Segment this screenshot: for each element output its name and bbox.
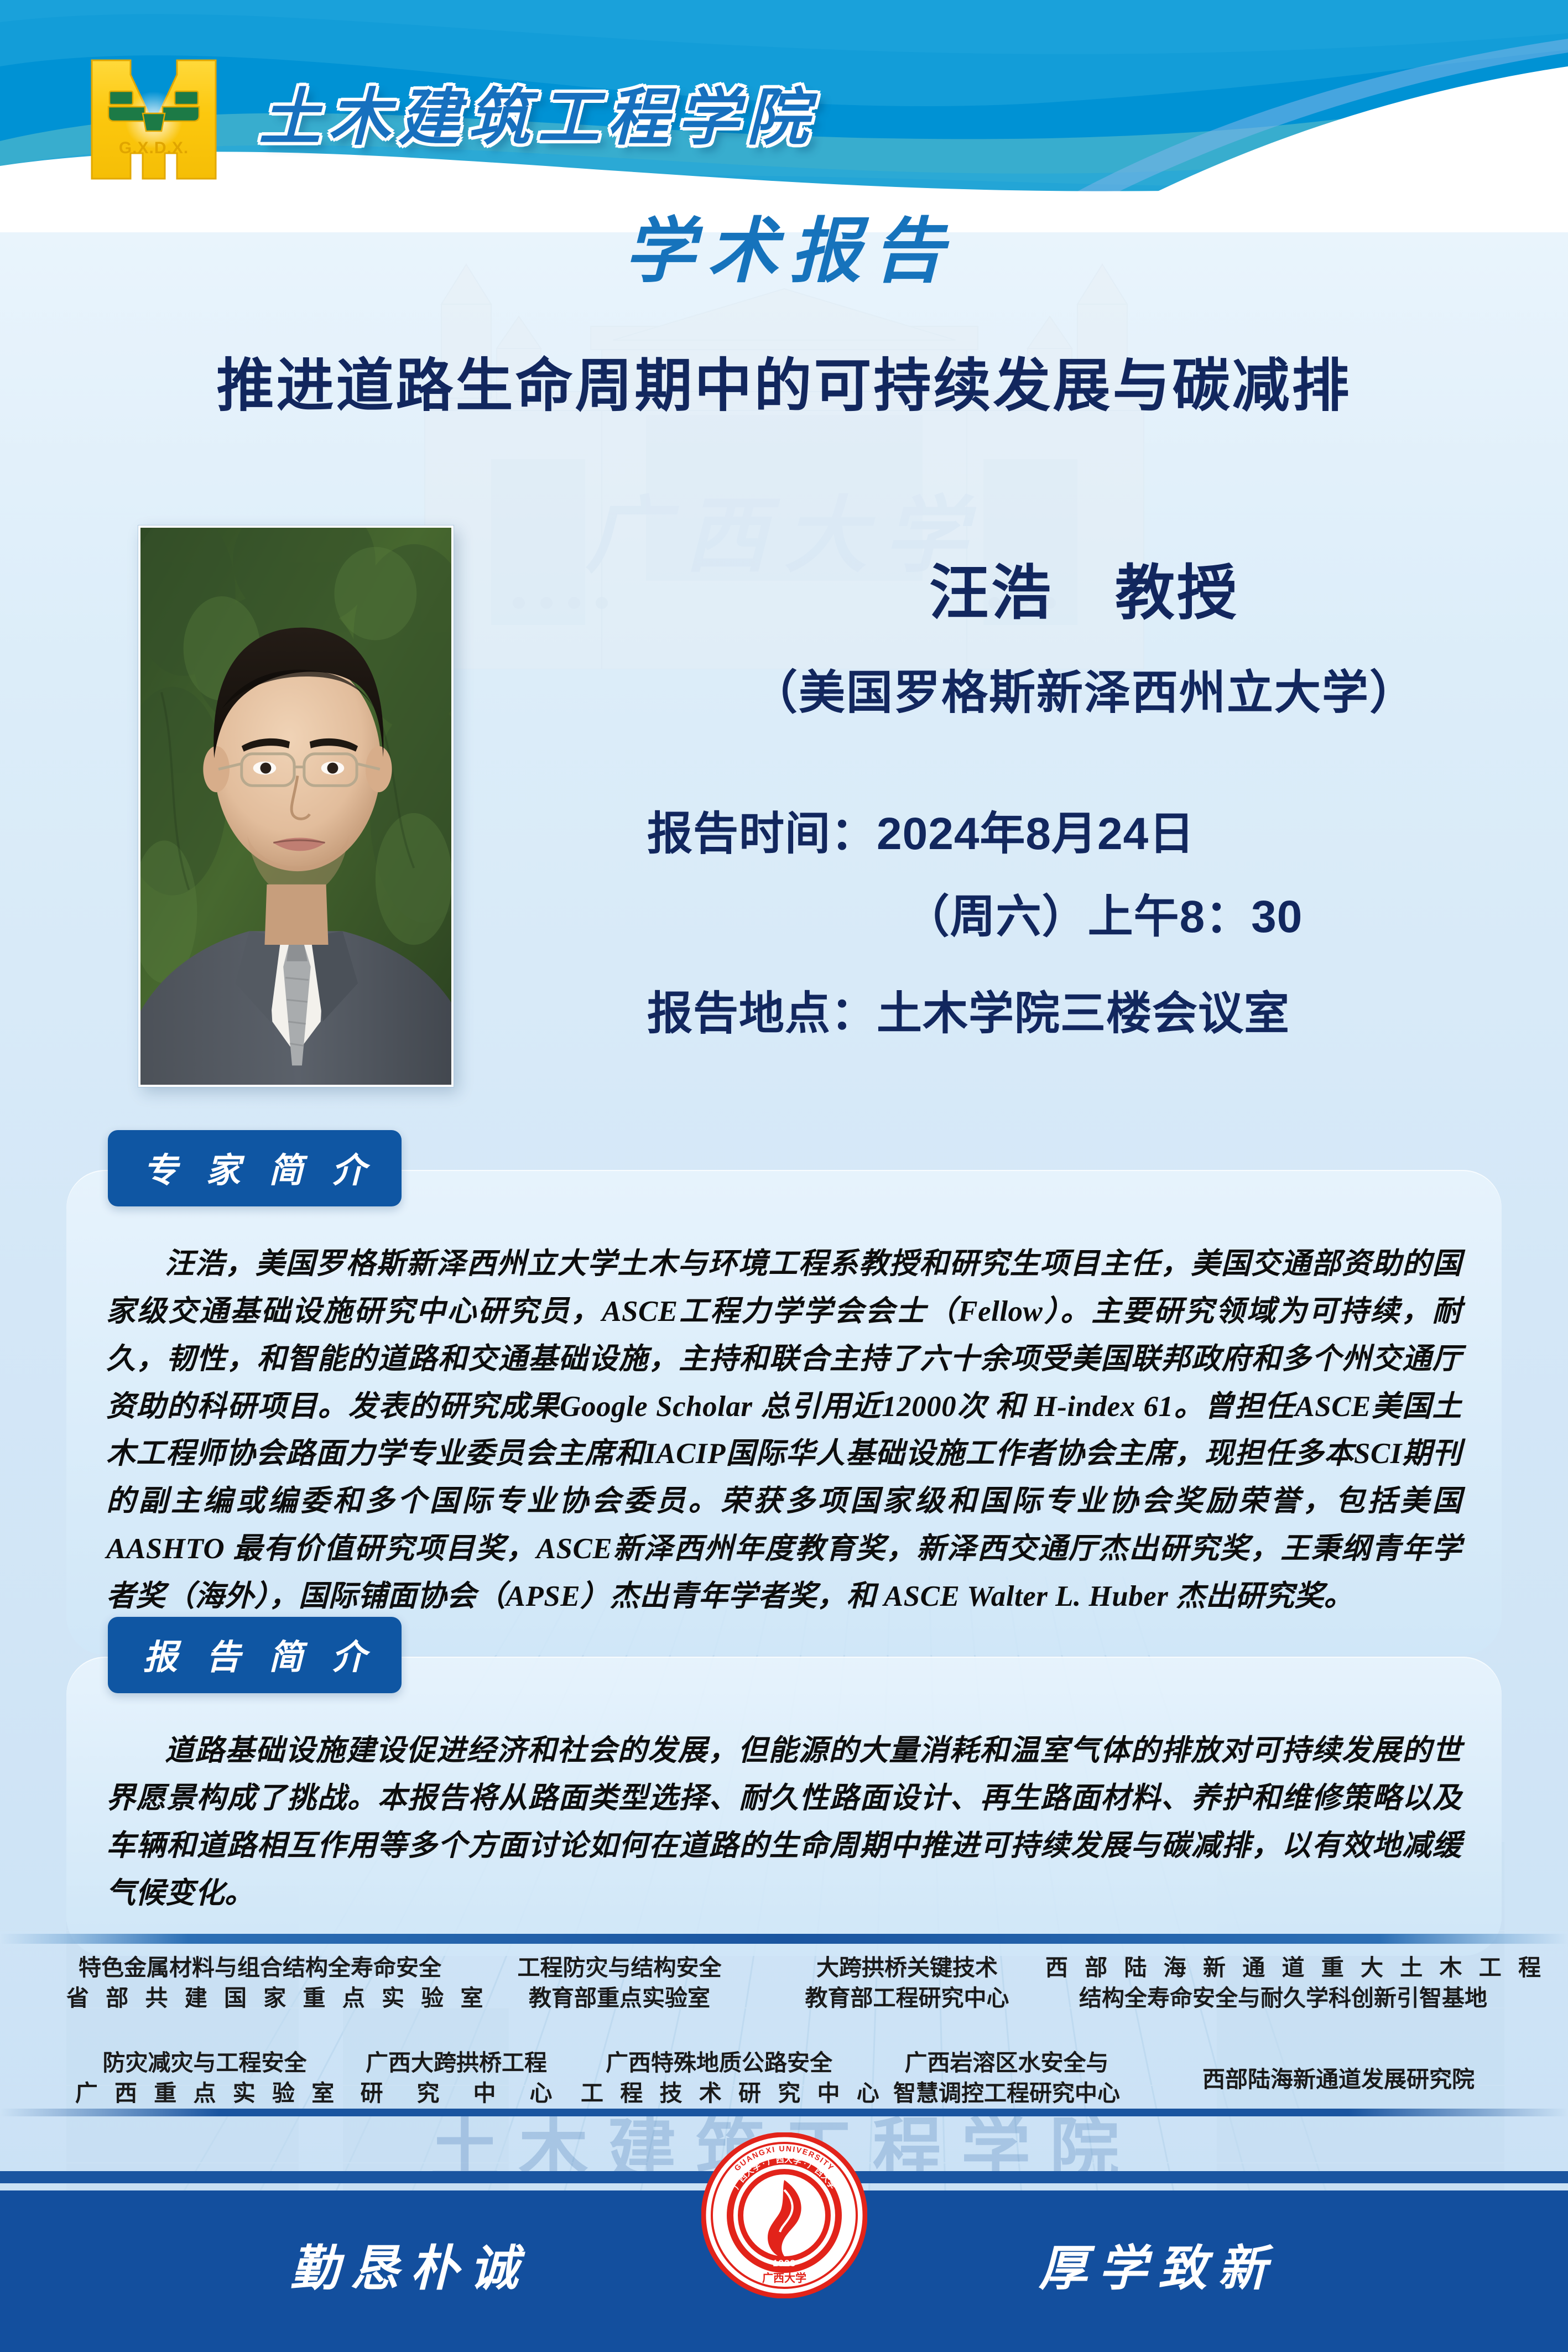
seal-name: 广西大学 (762, 2271, 806, 2285)
motto-left: 勤恳朴诚 (290, 2229, 529, 2299)
gxdx-logo-icon: G.X.D.X. (87, 58, 220, 181)
svg-text:G.X.D.X.: G.X.D.X. (119, 139, 189, 157)
speaker-affiliation: （美国罗格斯新泽西州立大学） (636, 655, 1532, 722)
school-name: 土木建筑工程学院 (259, 67, 816, 157)
section-divider (0, 1934, 1568, 1944)
speaker-block: 汪浩 教授 （美国罗格斯新泽西州立大学） 报告时间：2024年8月24日 （周六… (0, 514, 1568, 1106)
labs-row-1: 特色金属材料与组合结构全寿命安全 省 部 共 建 国 家 重 点 实 验 室 工… (0, 1953, 1568, 2030)
page-title: 推进道路生命周期中的可持续发展与碳减排 (0, 339, 1568, 422)
lab-item: 防灾减灾与工程安全 广 西 重 点 实 验 室 (66, 2048, 343, 2109)
lab-item: 特色金属材料与组合结构全寿命安全 省 部 共 建 国 家 重 点 实 验 室 (61, 1953, 459, 2013)
speaker-info: 汪浩 教授 （美国罗格斯新泽西州立大学） 报告时间：2024年8月24日 （周六… (636, 514, 1532, 1106)
lab-item: 广西特殊地质公路安全 工 程 技 术 研 究 中 心 (575, 2048, 863, 2109)
lab-item: 大跨拱桥关键技术 教育部工程研究中心 (774, 1953, 1040, 2013)
footer-stripe-upper (0, 2109, 1568, 2116)
expert-profile-text: 汪浩，美国罗格斯新泽西州立大学土木与环境工程系教授和研究生项目主任，美国交通部资… (106, 1241, 1462, 1621)
university-seal-graphic: 广西大学 · 广西大学 · 广西大学 GUANGXI UNIVERSITY 广西… (701, 2132, 867, 2298)
seal-year: 1928 (773, 2258, 796, 2268)
expert-profile-section: 专 家 简 介 汪浩，美国罗格斯新泽西州立大学土木与环境工程系教授和研究生项目主… (66, 1170, 1502, 1655)
talk-time: （周六）上午8：30 (636, 880, 1532, 945)
poster-root: G.X.D.X. 土木建筑工程学院 (0, 0, 1568, 2352)
motto-right: 厚学致新 (1039, 2229, 1278, 2299)
lab-item: 广西大跨拱桥工程 研 究 中 心 (337, 2048, 575, 2109)
labs-row-2: 防灾减灾与工程安全 广 西 重 点 实 验 室 广西大跨拱桥工程 研 究 中 心… (0, 2030, 1568, 2108)
talk-date: 报告时间：2024年8月24日 (636, 797, 1532, 862)
abstract-text: 道路基础设施建设促进经济和社会的发展，但能源的大量消耗和温室气体的排放对可持续发… (106, 1727, 1462, 1917)
gxdx-logo-graphic: G.X.D.X. (87, 58, 220, 181)
abstract-section: 报 告 简 介 道路基础设施建设促进经济和社会的发展，但能源的大量消耗和温室气体… (66, 1657, 1502, 1956)
abstract-badge: 报 告 简 介 (108, 1617, 402, 1693)
expert-profile-badge: 专 家 简 介 (108, 1130, 402, 1206)
abstract-card: 报 告 简 介 道路基础设施建设促进经济和社会的发展，但能源的大量消耗和温室气体… (66, 1657, 1502, 1956)
expert-profile-card: 专 家 简 介 汪浩，美国罗格斯新泽西州立大学土木与环境工程系教授和研究生项目主… (66, 1170, 1502, 1655)
university-seal-icon: 广西大学 · 广西大学 · 广西大学 GUANGXI UNIVERSITY 广西… (701, 2132, 867, 2298)
talk-location: 报告地点：土木学院三楼会议室 (636, 976, 1532, 1042)
poster-kicker: 学术报告 (0, 194, 1568, 296)
speaker-photo-graphic (140, 528, 451, 1085)
lab-item: 西部陆海新通道发展研究院 (1156, 2064, 1521, 2095)
lab-item: 西 部 陆 海 新 通 道 重 大 土 木 工 程 结构全寿命安全与耐久学科创新… (1040, 1953, 1527, 2013)
speaker-name: 汪浩 教授 (636, 545, 1532, 631)
lab-item: 工程防灾与结构安全 教育部重点实验室 (487, 1953, 752, 2013)
speaker-portrait (138, 525, 454, 1087)
lab-item: 广西岩溶区水安全与 智慧调控工程研究中心 (863, 2048, 1150, 2109)
affiliated-labs: 特色金属材料与组合结构全寿命安全 省 部 共 建 国 家 重 点 实 验 室 工… (0, 1953, 1568, 2108)
